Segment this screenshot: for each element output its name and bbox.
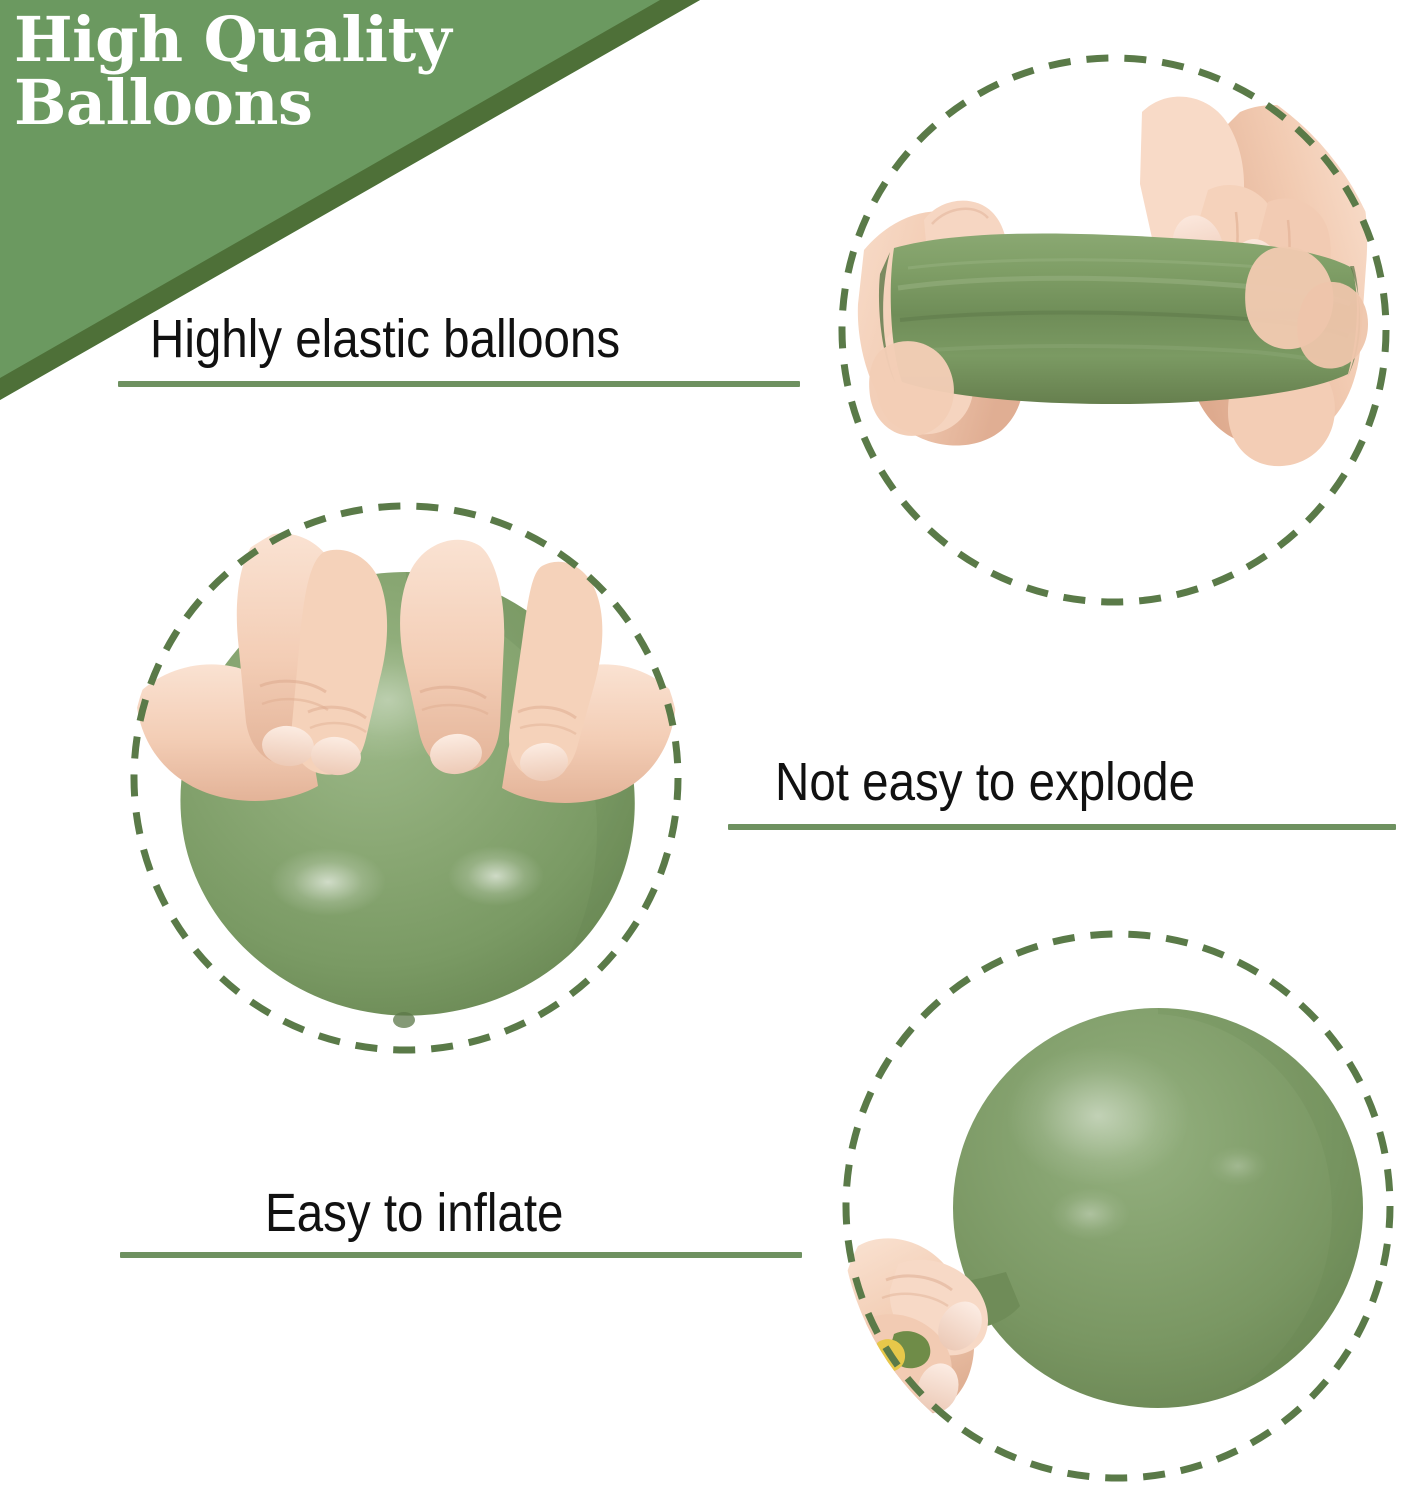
balloon-body [944, 1008, 1363, 1408]
photo-circle-press [128, 500, 684, 1056]
infographic-page: High Quality Balloons Highly elastic bal… [0, 0, 1404, 1500]
page-title: High Quality Balloons [14, 8, 534, 134]
image-hands-stretching-balloon [836, 52, 1392, 608]
photo-clip-stretch [836, 52, 1392, 608]
feature-heading-elastic: Highly elastic balloons [150, 312, 620, 366]
image-hands-pressing-balloon [128, 500, 684, 1056]
left-hand-pressing [136, 533, 387, 801]
photo-clip-inflate [840, 928, 1396, 1484]
photo-circle-stretch [836, 52, 1392, 608]
feature-heading-inflate: Easy to inflate [265, 1186, 563, 1240]
image-hand-holding-inflated-balloon [840, 928, 1396, 1484]
photo-circle-inflate [840, 928, 1396, 1484]
feature-heading-explode: Not easy to explode [775, 755, 1195, 809]
feature-rule-elastic [118, 381, 800, 387]
photo-clip-press [128, 500, 684, 1056]
right-hand-pressing [400, 540, 676, 803]
feature-rule-explode [728, 824, 1396, 830]
feature-rule-inflate [120, 1252, 802, 1258]
